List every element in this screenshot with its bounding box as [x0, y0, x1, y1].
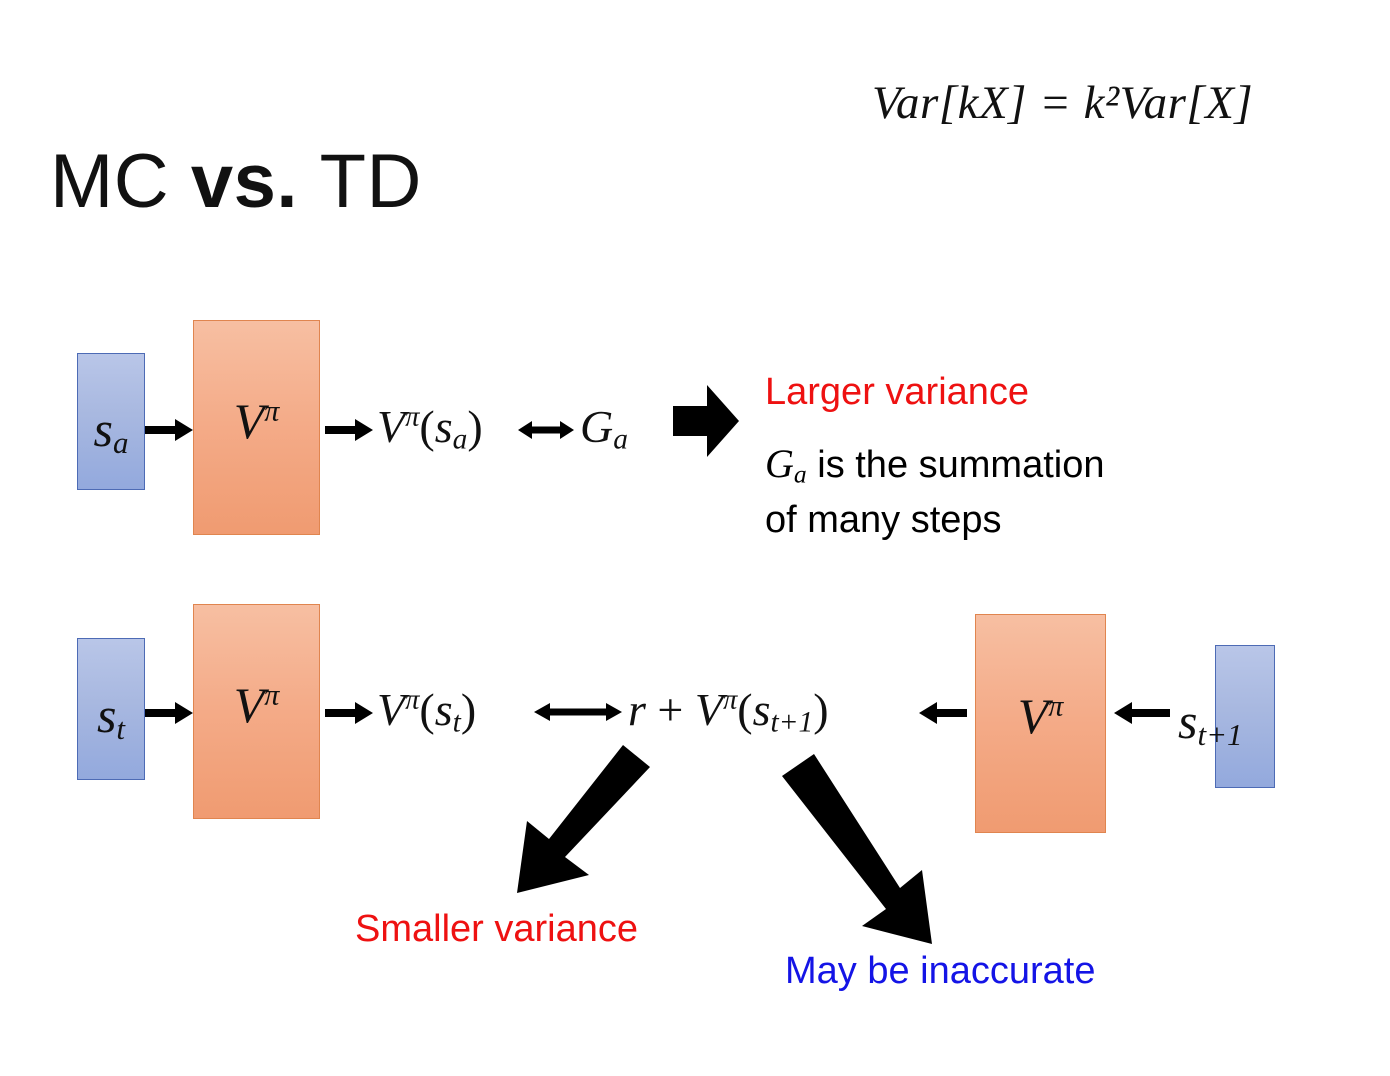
slide-canvas: Var[kX] = k²Var[X] MC vs. TD sa Vπ Vπ(sa… [0, 0, 1390, 1076]
td-next-value-box-label: Vπ [975, 687, 1106, 745]
td-state-box-label: st [77, 686, 145, 747]
td-smaller-variance-label: Smaller variance [355, 908, 638, 951]
variance-formula: Var[kX] = k²Var[X] [872, 76, 1253, 130]
mc-return-symbol: Ga [580, 400, 628, 456]
mc-larger-variance-label: Larger variance [765, 371, 1029, 414]
mc-value-expression: Vπ(sa) [377, 400, 483, 456]
mc-value-box-label: Vπ [193, 392, 320, 450]
mc-note-line2: of many steps [765, 497, 1002, 543]
td-block-arrow-smaller-variance [505, 745, 650, 900]
title-mc: MC [50, 139, 169, 224]
mc-note-line1: Ga is the summation [765, 440, 1104, 490]
variance-formula-text: Var[kX] = k²Var[X] [872, 77, 1253, 129]
td-arrow-value-to-expr [325, 700, 375, 726]
mc-arrow-value-to-expr [325, 417, 375, 443]
mc-arrow-state-to-value [145, 417, 195, 443]
td-arrow-next-value-to-expr [915, 700, 967, 726]
title-vs: vs. [191, 139, 298, 224]
td-bidirectional-arrow [534, 700, 622, 724]
td-left-expression: Vπ(st) [377, 683, 476, 739]
mc-state-box-label: sa [77, 400, 145, 461]
td-next-state-box-label: st+1 [1178, 692, 1243, 753]
page-title: MC vs. TD [50, 138, 422, 225]
td-may-be-inaccurate-label: May be inaccurate [785, 950, 1096, 993]
title-td: TD [320, 139, 422, 224]
td-right-expression: r + Vπ(st+1) [628, 683, 829, 739]
mc-bidirectional-arrow [518, 418, 574, 442]
td-arrow-state-to-value [145, 700, 195, 726]
mc-note-text1: is the summation [817, 444, 1104, 486]
td-block-arrow-may-be-inaccurate [782, 752, 932, 944]
td-value-box-label: Vπ [193, 676, 320, 734]
mc-block-arrow-icon [673, 385, 739, 457]
mc-note-symbol: Ga [765, 441, 807, 486]
td-arrow-next-state-to-value [1110, 700, 1170, 726]
